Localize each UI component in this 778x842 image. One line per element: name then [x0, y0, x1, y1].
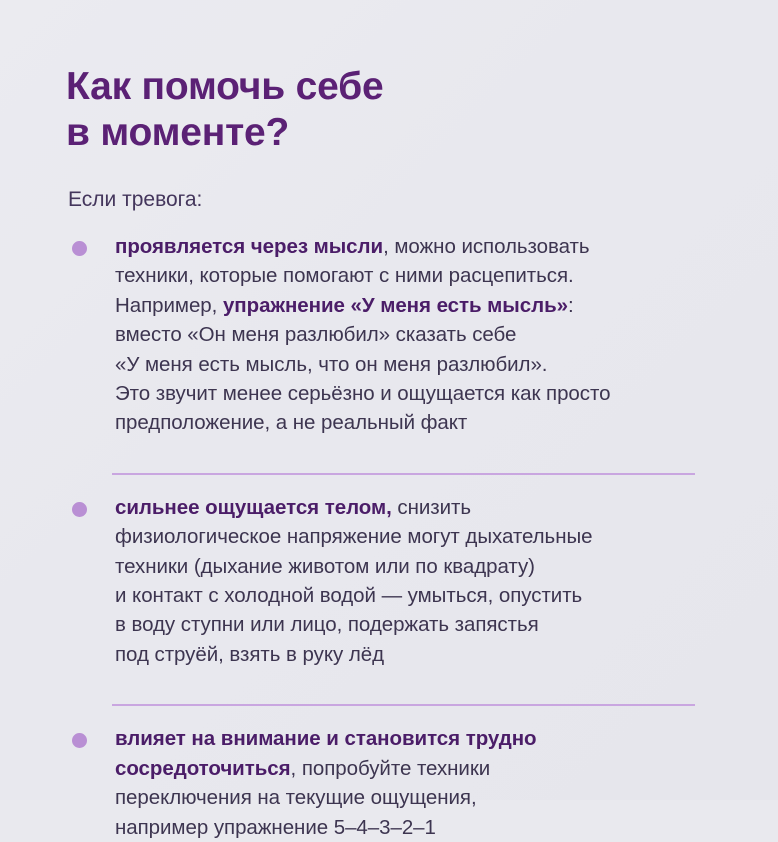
list-item-attention: влияет на внимание и становится трудно с…: [68, 724, 708, 842]
divider-2: [112, 704, 695, 706]
lead-emphasis: проявляется через мысли: [115, 235, 383, 258]
bullet-dot-icon: [72, 733, 87, 748]
list-item-text: влияет на внимание и становится трудно с…: [115, 724, 708, 842]
spacer: [68, 438, 708, 455]
list-item-text: проявляется через мысли, можно использов…: [115, 232, 708, 438]
bullet-dot-icon: [72, 241, 87, 256]
info-card: Как помочь себе в моменте? Если тревога:…: [0, 0, 778, 800]
bullet-dot-icon: [72, 502, 87, 517]
body-text-a: снизить физиологическое напряжение могут…: [115, 496, 593, 666]
section-subtitle: Если тревога:: [68, 187, 202, 212]
lead-emphasis: сильнее ощущается телом,: [115, 496, 392, 519]
divider-1: [112, 473, 695, 475]
mid-emphasis: упражнение «У меня есть мысль»: [223, 294, 568, 317]
list-item-thoughts: проявляется через мысли, можно использов…: [68, 232, 708, 438]
spacer: [68, 669, 708, 686]
list-item-text: сильнее ощущается телом, снизить физиоло…: [115, 493, 708, 669]
page-title: Как помочь себе в моменте?: [66, 64, 706, 156]
advice-list: проявляется через мысли, можно использов…: [68, 232, 708, 842]
list-item-body-sensation: сильнее ощущается телом, снизить физиоло…: [68, 493, 708, 669]
